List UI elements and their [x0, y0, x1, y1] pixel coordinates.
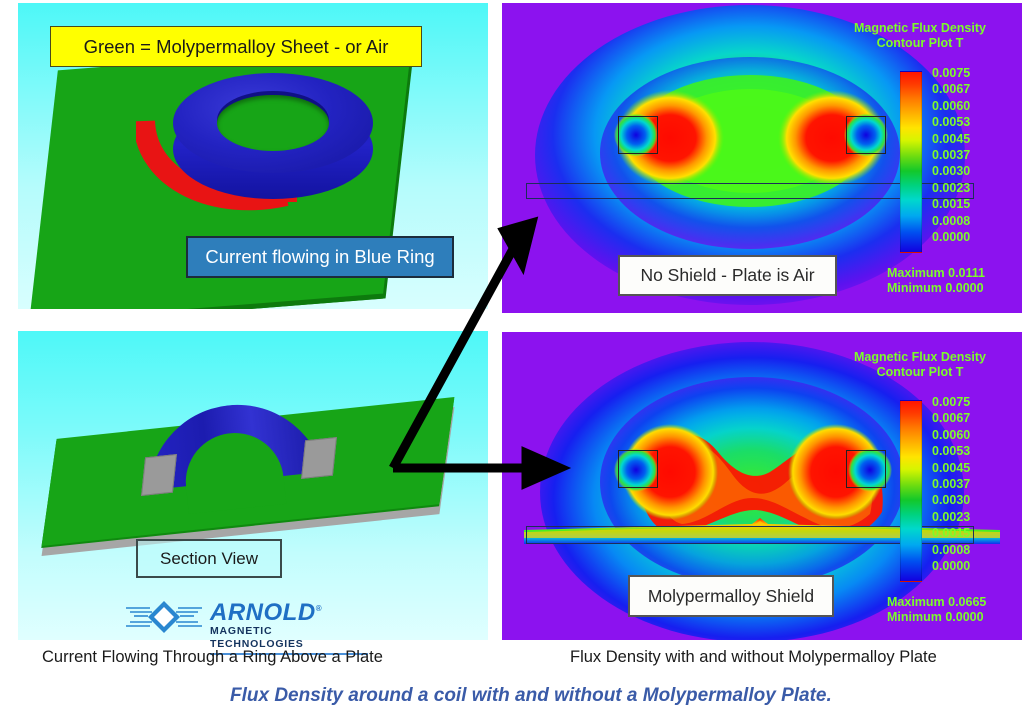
blue-ring-coil [173, 71, 373, 206]
arnold-diamond-icon [124, 597, 204, 637]
tick-value: 0.0000 [932, 229, 970, 245]
tick-value: 0.0045 [932, 460, 970, 476]
arrow-to-bottom-plot-head [526, 453, 560, 483]
legend-minimum-bottom: Minimum 0.0000 [887, 610, 984, 625]
coil-foot-right [301, 437, 337, 479]
tick-value: 0.0023 [932, 180, 970, 196]
tick-value: 0.0015 [932, 525, 970, 541]
legend-label-green-material: Green = Molypermalloy Sheet - or Air [50, 26, 422, 67]
legend-maximum-bottom: Maximum 0.0665 [887, 595, 986, 610]
legend-maximum-top: Maximum 0.0111 [887, 266, 985, 281]
connector-arrows [380, 215, 580, 495]
tick-value: 0.0030 [932, 163, 970, 179]
arnold-magnetic-technologies-logo: ARNOLD® MAGNETIC TECHNOLOGIES [124, 597, 368, 639]
label-no-shield-plate-is-air: No Shield - Plate is Air [618, 255, 837, 296]
colorbar-tick-labels-top: 0.0075 0.0067 0.0060 0.0053 0.0045 0.003… [932, 65, 970, 245]
figure-main-caption: Flux Density around a coil with and with… [230, 685, 832, 707]
legend-minimum-top: Minimum 0.0000 [887, 281, 984, 296]
tick-value: 0.0008 [932, 542, 970, 558]
tick-value: 0.0067 [932, 410, 970, 426]
label-molypermalloy-shield: Molypermalloy Shield [628, 575, 834, 617]
colorbar-bottom [900, 400, 922, 582]
tick-value: 0.0030 [932, 492, 970, 508]
tick-value: 0.0053 [932, 114, 970, 130]
tick-value: 0.0015 [932, 196, 970, 212]
tick-value: 0.0060 [932, 98, 970, 114]
colorbar-tick-labels-bottom: 0.0075 0.0067 0.0060 0.0053 0.0045 0.003… [932, 394, 970, 574]
tick-value: 0.0008 [932, 213, 970, 229]
ring-hole [217, 95, 329, 151]
tick-value: 0.0075 [932, 394, 970, 410]
tick-value: 0.0037 [932, 147, 970, 163]
tick-value: 0.0023 [932, 509, 970, 525]
tick-value: 0.0067 [932, 81, 970, 97]
arrow-to-top-plot-shaft [393, 249, 513, 468]
label-section-view: Section View [136, 539, 282, 578]
tick-value: 0.0045 [932, 131, 970, 147]
caption-right-panels: Flux Density with and without Molypermal… [570, 648, 937, 667]
tick-value: 0.0060 [932, 427, 970, 443]
tick-value: 0.0075 [932, 65, 970, 81]
logo-wordmark: ARNOLD® [210, 597, 368, 625]
tick-value: 0.0000 [932, 558, 970, 574]
colorbar-top [900, 71, 922, 253]
coil-foot-left [141, 454, 177, 496]
legend-title-bottom: Magnetic Flux DensityContour Plot T [820, 350, 1020, 380]
tick-value: 0.0053 [932, 443, 970, 459]
legend-title-top: Magnetic Flux DensityContour Plot T [820, 21, 1020, 51]
tick-value: 0.0037 [932, 476, 970, 492]
slide-root: Green = Molypermalloy Sheet - or Air Cur… [0, 0, 1024, 717]
caption-left-panels: Current Flowing Through a Ring Above a P… [42, 648, 383, 667]
